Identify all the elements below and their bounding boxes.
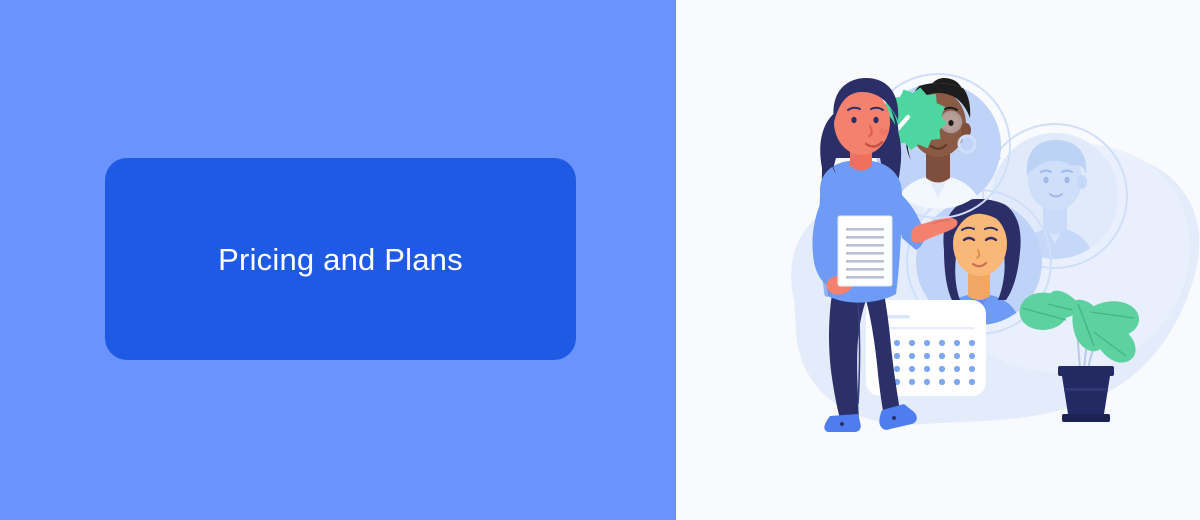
left-panel: Pricing and Plans bbox=[0, 0, 676, 520]
pricing-and-plans-button[interactable]: Pricing and Plans bbox=[105, 158, 576, 360]
document-in-hand bbox=[838, 216, 892, 286]
pricing-and-plans-button-label: Pricing and Plans bbox=[218, 244, 463, 275]
right-panel bbox=[676, 0, 1200, 520]
team-illustration bbox=[676, 0, 1200, 520]
pricing-hero-banner: Pricing and Plans bbox=[0, 0, 1200, 520]
